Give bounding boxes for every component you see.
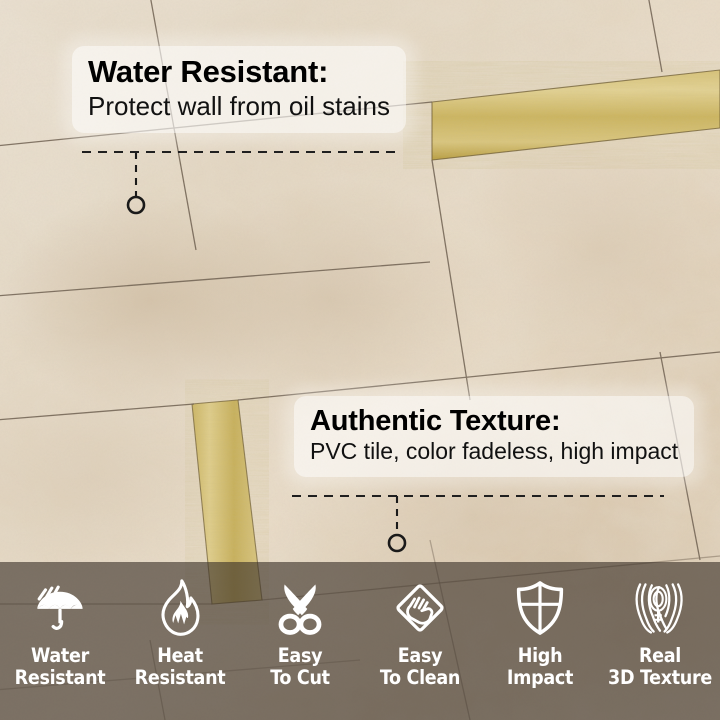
callout-subtitle-water-resistant: Protect wall from oil stains bbox=[88, 92, 390, 121]
feature-water-resistant: Water Resistant bbox=[0, 576, 120, 689]
feature-easy-to-cut: Easy To Cut bbox=[240, 576, 360, 689]
flame-icon bbox=[154, 576, 206, 640]
feature-label-high-impact: High Impact bbox=[507, 645, 573, 689]
callout-title-authentic-texture: Authentic Texture: bbox=[310, 406, 678, 436]
callout-subtitle-authentic-texture: PVC tile, color fadeless, high impact bbox=[310, 439, 678, 465]
shield-icon bbox=[514, 576, 566, 640]
feature-easy-to-clean: Easy To Clean bbox=[360, 576, 480, 689]
feature-label-water-resistant: Water Resistant bbox=[15, 645, 106, 689]
umbrella-icon bbox=[31, 576, 89, 640]
callout-water-resistant: Water Resistant: Protect wall from oil s… bbox=[72, 46, 406, 133]
feature-label-real-3d-texture: Real 3D Texture bbox=[608, 645, 712, 689]
feature-bar: Water Resistant Heat Resistant bbox=[0, 562, 720, 720]
feature-label-easy-to-cut: Easy To Cut bbox=[270, 645, 330, 689]
callout-authentic-texture: Authentic Texture: PVC tile, color fadel… bbox=[294, 396, 694, 477]
feature-real-3d-texture: Real 3D Texture bbox=[600, 576, 720, 689]
wiping-hand-icon bbox=[391, 576, 449, 640]
callout-title-water-resistant: Water Resistant: bbox=[88, 56, 390, 89]
feature-heat-resistant: Heat Resistant bbox=[120, 576, 240, 689]
scissors-icon bbox=[273, 576, 327, 640]
product-feature-banner: Water Resistant: Protect wall from oil s… bbox=[0, 0, 720, 720]
woodgrain-icon bbox=[631, 576, 689, 640]
feature-label-heat-resistant: Heat Resistant bbox=[135, 645, 226, 689]
feature-label-easy-to-clean: Easy To Clean bbox=[380, 645, 460, 689]
feature-high-impact: High Impact bbox=[480, 576, 600, 689]
